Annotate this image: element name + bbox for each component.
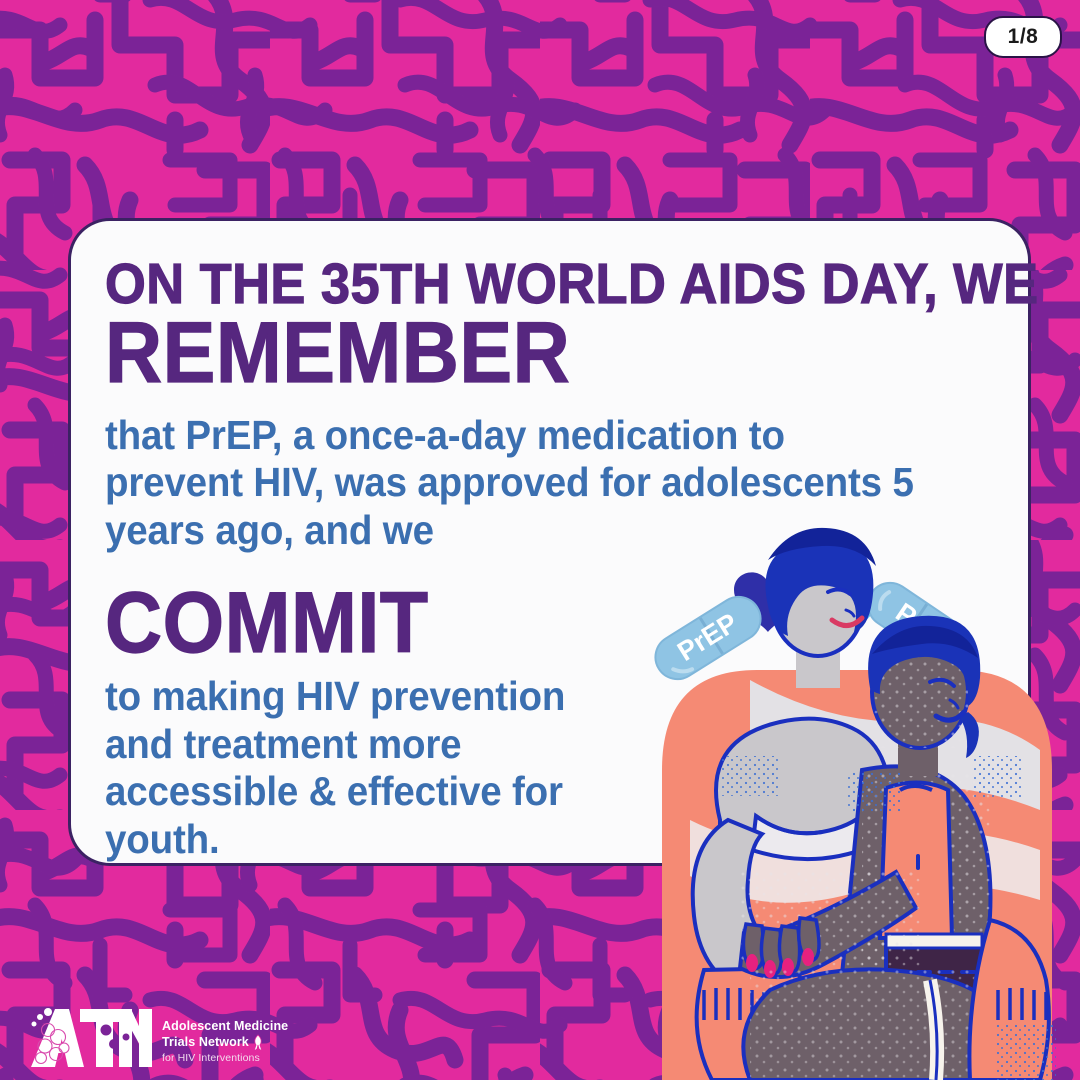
social-card-canvas: 1/8 ON THE 35TH WORLD AIDS DAY, WE REMEM… [0,0,1080,1080]
page-indicator-label: 1/8 [1008,25,1039,49]
couple-illustration: PrEP PrEP [600,520,1080,1080]
atn-logo-tagline: Adolescent Medicine Trials Network for H… [162,1020,288,1070]
atn-logo-mark [26,1004,154,1070]
awareness-ribbon-icon [251,1034,265,1052]
atn-tagline-line1: Adolescent Medicine [162,1020,288,1034]
headline-remember: REMEMBER [105,314,915,393]
atn-logo: Adolescent Medicine Trials Network for H… [26,1004,288,1070]
atn-tagline-line2: Trials Network [162,1036,249,1050]
headline-intro: ON THE 35TH WORLD AIDS DAY, WE [105,258,915,310]
body-paragraph-2: to making HIV prevention and treatment m… [105,673,631,863]
page-indicator-badge: 1/8 [984,16,1062,58]
atn-tagline-line3: for HIV Interventions [162,1053,288,1064]
